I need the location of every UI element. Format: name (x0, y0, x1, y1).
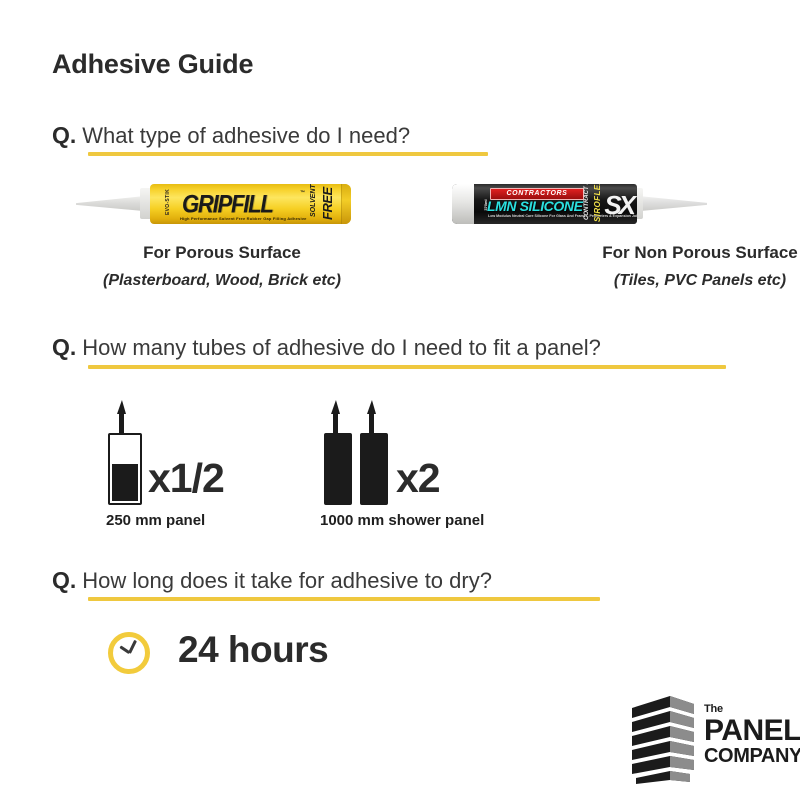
logo-line-panel: PANEL (704, 716, 800, 745)
infographic-page: Adhesive Guide Q.What type of adhesive d… (0, 0, 800, 800)
drying-time-answer: 24 hours (178, 629, 328, 671)
tube-icon-tip (117, 400, 126, 414)
question-3-text: How long does it take for adhesive to dr… (82, 568, 492, 593)
tube-icon-neck (119, 413, 124, 435)
gripfill-tagline: High Performance Solvent Free Rubber Gap… (180, 216, 307, 221)
the-panel-company-logo: The PANEL COMPANY (630, 694, 788, 786)
lmn-badge-top: SIROFLEX (593, 184, 602, 222)
question-1: Q.What type of adhesive do I need? (52, 122, 410, 149)
tube-icon-body (360, 433, 388, 505)
caption-primary: For Non Porous Surface (380, 243, 800, 263)
tube-end-cap (341, 184, 351, 224)
question-2-text: How many tubes of adhesive do I need to … (82, 335, 601, 360)
clock-minute-hand (128, 640, 136, 654)
question-prefix: Q. (52, 122, 76, 148)
question-prefix: Q. (52, 334, 76, 360)
question-3: Q.How long does it take for adhesive to … (52, 567, 492, 594)
tube-icon-neck (369, 413, 374, 435)
tube-icon-full-a (324, 400, 352, 505)
lmn-badge-bottom: CONTRACT SEALANTS (584, 184, 590, 220)
gripfill-trademark: ™ (300, 190, 305, 196)
porous-surface-caption: For Porous Surface (Plasterboard, Wood, … (0, 243, 444, 290)
caption-secondary: (Plasterboard, Wood, Brick etc) (0, 272, 444, 290)
tube-icon-fill (364, 433, 384, 501)
tube-icon-body (324, 433, 352, 505)
logo-wordmark: The PANEL COMPANY (704, 704, 800, 766)
quantity-caption-2: 1000 mm shower panel (320, 512, 484, 529)
lmn-silicone-adhesive-tube: 370ml CONTRACTORS LMN SILICONE Low Modul… (452, 182, 707, 226)
lmn-tube-body: 370ml CONTRACTORS LMN SILICONE Low Modul… (452, 184, 637, 224)
question-1-text: What type of adhesive do I need? (82, 123, 410, 148)
quantity-multiplier-2: x2 (396, 455, 440, 502)
question-1-underline (88, 152, 488, 156)
siroflex-sx-logo: SX (604, 185, 633, 224)
quantity-multiplier-1: x1/2 (148, 455, 224, 502)
gripfill-badge-top: SOLVENT (310, 184, 317, 217)
quantity-caption-1: 250 mm panel (106, 512, 205, 529)
panel-stack-mark-icon (630, 694, 696, 786)
question-3-underline (88, 597, 600, 601)
gripfill-brand-label: GRIPFILL (182, 190, 273, 219)
tube-icon-fill (328, 433, 348, 501)
tube-icon-body (108, 433, 142, 505)
gripfill-tube-body: EVO-STIK GRIPFILL ™ SOLVENT FREE High Pe… (150, 184, 351, 224)
tube-icon-half (108, 400, 142, 505)
clock-icon (108, 632, 150, 674)
gripfill-badge-bottom: FREE (320, 187, 335, 220)
gripfill-side-text: EVO-STIK (157, 193, 179, 215)
question-2: Q.How many tubes of adhesive do I need t… (52, 334, 601, 361)
logo-line-company: COMPANY (704, 746, 800, 766)
tube-icon-neck (333, 413, 338, 435)
caption-secondary: (Tiles, PVC Panels etc) (380, 272, 800, 290)
page-title: Adhesive Guide (52, 49, 253, 80)
tube-icon-full-b (360, 400, 388, 505)
non-porous-surface-caption: For Non Porous Surface (Tiles, PVC Panel… (380, 243, 800, 290)
tube-icon-tip (331, 400, 340, 414)
tube-icon-fill (112, 464, 138, 501)
gripfill-adhesive-tube: EVO-STIK GRIPFILL ™ SOLVENT FREE High Pe… (76, 182, 351, 226)
lmn-brand-label: LMN SILICONE (487, 198, 583, 214)
tube-icon-tip (367, 400, 376, 414)
question-prefix: Q. (52, 567, 76, 593)
tube-end-cap (452, 184, 474, 224)
caption-primary: For Porous Surface (0, 243, 444, 263)
question-2-underline (88, 365, 726, 369)
